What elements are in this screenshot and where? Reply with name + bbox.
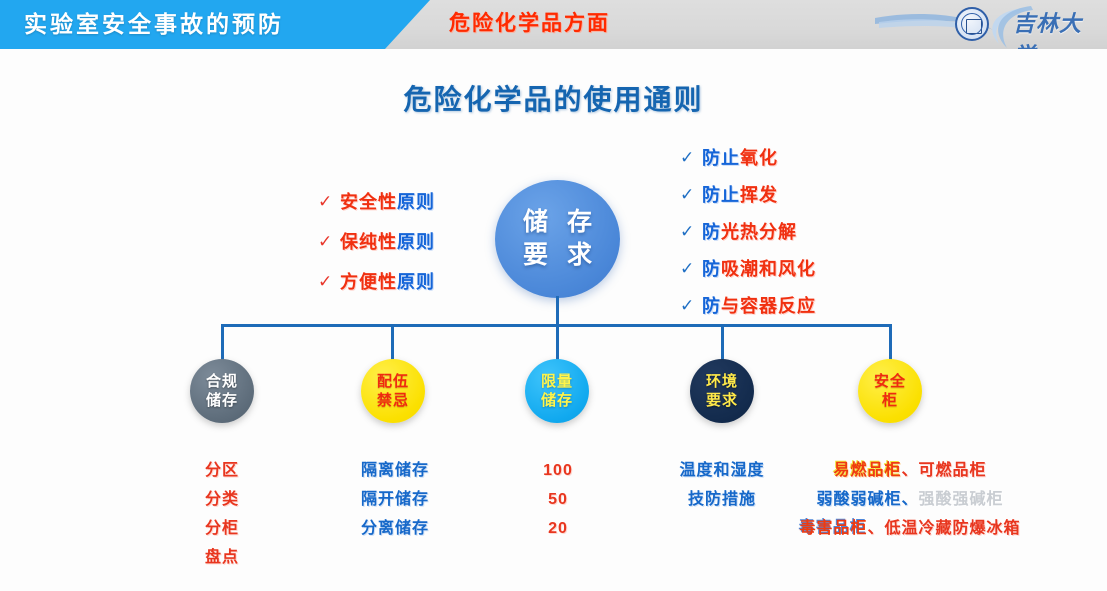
check-icon: ✓ (680, 149, 702, 166)
list-item-text: 防与容器反应 (702, 292, 816, 318)
list-item: ✓ 防吸潮和风化 (680, 255, 816, 281)
column-item: 20 (508, 514, 608, 543)
seal-inner-mark (966, 19, 982, 34)
center-node-line1: 储 存 (517, 206, 598, 239)
column-item: 毒害品柜、低温冷藏防爆冰箱 (790, 514, 1030, 543)
connector-center-stem (556, 296, 559, 326)
column-item: 盘点 (172, 543, 272, 572)
center-node-storage-requirements: 储 存 要 求 (495, 180, 620, 298)
header-title: 实验室安全事故的预防 (24, 9, 284, 39)
connector-drop-4 (721, 324, 724, 361)
list-item: ✓ 保纯性原则 (318, 228, 435, 254)
slide-canvas: 实验室安全事故的预防 危险化学品方面 吉林大学 危险化学品的使用通则 ✓ 安全性… (0, 0, 1107, 591)
column-item: 温度和湿度 (654, 456, 790, 485)
list-item-text: 防吸潮和风化 (702, 255, 816, 281)
seal-icon (955, 7, 989, 41)
node-line2: 储存 (541, 391, 573, 410)
connector-drop-1 (221, 324, 224, 361)
list-item: ✓ 防止氧化 (680, 144, 816, 170)
check-icon: ✓ (680, 223, 702, 240)
node-safety-cabinet: 安全 柜 (858, 359, 922, 423)
column-environment-details: 温度和湿度 技防措施 (654, 456, 790, 514)
node-line1: 环境 (706, 372, 738, 391)
node-line1: 限量 (541, 372, 573, 391)
node-environment-requirements: 环境 要求 (690, 359, 754, 423)
check-icon: ✓ (318, 193, 340, 210)
check-icon: ✓ (680, 297, 702, 314)
connector-drop-2 (391, 324, 394, 361)
column-item: 分区 (172, 456, 272, 485)
right-prevention-list: ✓ 防止氧化 ✓ 防止挥发 ✓ 防光热分解 ✓ 防吸潮和风化 ✓ 防与容器反应 (680, 144, 816, 329)
list-item: ✓ 安全性原则 (318, 188, 435, 214)
logo-university-name: 吉林大学 (1013, 6, 1103, 49)
node-compatibility-taboo: 配伍 禁忌 (361, 359, 425, 423)
node-line1: 安全 (874, 372, 906, 391)
column-item: 隔离储存 (327, 456, 463, 485)
node-line2: 要求 (706, 391, 738, 410)
university-logo: 吉林大学 (873, 0, 1103, 49)
column-safety-cabinet-details: 易燃品柜、可燃品柜 弱酸弱碱柜、强酸强碱柜 毒害品柜、低温冷藏防爆冰箱 (790, 456, 1030, 543)
column-item: 隔开储存 (327, 485, 463, 514)
check-icon: ✓ (680, 186, 702, 203)
node-line2: 禁忌 (377, 391, 409, 410)
check-icon: ✓ (318, 233, 340, 250)
list-item: ✓ 防与容器反应 (680, 292, 816, 318)
header-subtitle: 危险化学品方面 (449, 9, 610, 39)
node-line2: 柜 (882, 391, 898, 410)
column-item: 分离储存 (327, 514, 463, 543)
list-item-text: 防光热分解 (702, 218, 797, 244)
column-item: 技防措施 (654, 485, 790, 514)
connector-drop-3 (556, 324, 559, 361)
center-node-line2: 要 求 (517, 239, 598, 272)
column-item: 弱酸弱碱柜、强酸强碱柜 (790, 485, 1030, 514)
list-item: ✓ 方便性原则 (318, 268, 435, 294)
column-compliant-storage-details: 分区 分类 分柜 盘点 (172, 456, 272, 572)
column-item: 50 (508, 485, 608, 514)
list-item-text: 防止氧化 (702, 144, 778, 170)
node-compliant-storage: 合规 储存 (190, 359, 254, 423)
list-item-text: 方便性原则 (340, 268, 435, 294)
column-item: 分柜 (172, 514, 272, 543)
column-compatibility-details: 隔离储存 隔开储存 分离储存 (327, 456, 463, 543)
column-item: 易燃品柜、可燃品柜 (790, 456, 1030, 485)
list-item-text: 防止挥发 (702, 181, 778, 207)
node-quantity-limit-storage: 限量 储存 (525, 359, 589, 423)
list-item: ✓ 防光热分解 (680, 218, 816, 244)
list-item-text: 保纯性原则 (340, 228, 435, 254)
check-icon: ✓ (680, 260, 702, 277)
page-title: 危险化学品的使用通则 (0, 78, 1107, 118)
column-item: 分类 (172, 485, 272, 514)
node-line1: 配伍 (377, 372, 409, 391)
slide-header: 实验室安全事故的预防 危险化学品方面 吉林大学 (0, 0, 1107, 49)
node-line1: 合规 (206, 372, 238, 391)
node-line2: 储存 (206, 391, 238, 410)
check-icon: ✓ (318, 273, 340, 290)
list-item: ✓ 防止挥发 (680, 181, 816, 207)
column-item: 100 (508, 456, 608, 485)
left-principles-list: ✓ 安全性原则 ✓ 保纯性原则 ✓ 方便性原则 (318, 188, 435, 308)
connector-drop-5 (889, 324, 892, 361)
column-quantity-limit-details: 100 50 20 (508, 456, 608, 543)
list-item-text: 安全性原则 (340, 188, 435, 214)
